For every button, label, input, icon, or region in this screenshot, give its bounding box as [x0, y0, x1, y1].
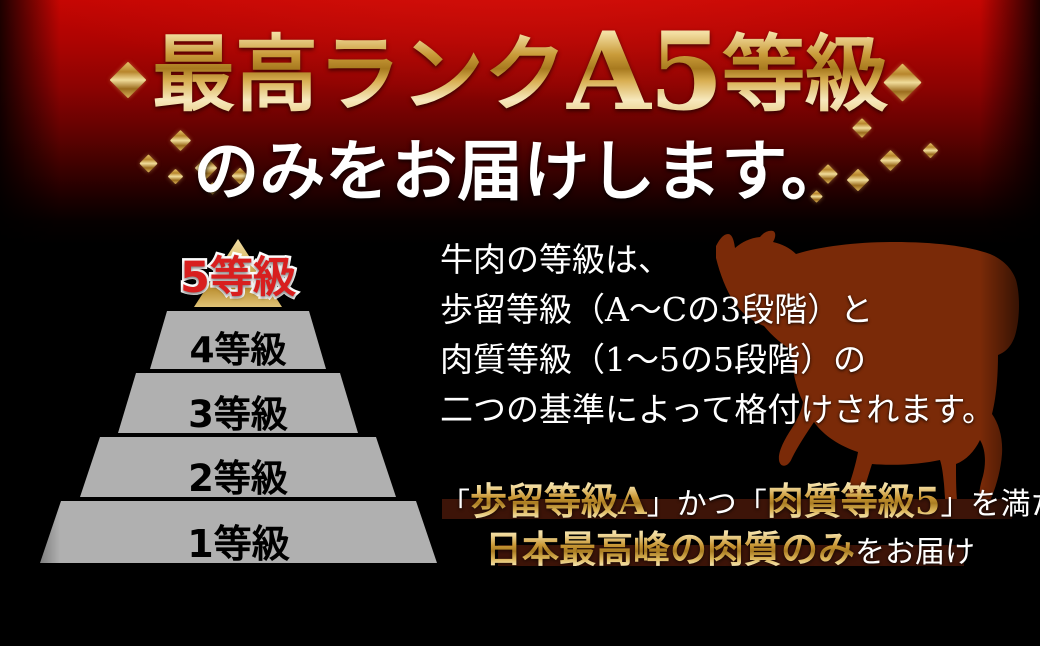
pyramid-tier-1-label: 1等級 — [40, 513, 437, 568]
body-line: 肉質等級（1〜5の5段階）の — [440, 343, 1020, 376]
bottom-highlight: 「歩留等級A」かつ「肉質等級5」を満たした、 日本最高峰の肉質のみをお届け — [440, 482, 1020, 578]
grade-pyramid: 4等級 3等級 2等級 1等級 5等級 — [0, 0, 470, 646]
pyramid-tier-2-label: 2等級 — [80, 448, 396, 502]
pyramid-tier-1: 1等級 — [40, 501, 437, 563]
pyramid-tier-3-label: 3等級 — [118, 384, 358, 438]
bottom-l1-s3: 」かつ「 — [647, 487, 767, 522]
bottom-line-1: 「歩留等級A」かつ「肉質等級5」を満たした、 — [440, 482, 1020, 521]
body-line: 牛肉の等級は、 — [440, 243, 1020, 276]
pyramid-tier-4-label: 4等級 — [150, 321, 326, 373]
pyramid-tier-2: 2等級 — [80, 437, 396, 497]
bottom-line-2: 日本最高峰の肉質のみをお届け — [440, 530, 1020, 569]
body-line: 歩留等級（A〜Cの3段階）と — [440, 293, 1020, 326]
body-text: 牛肉の等級は、 歩留等級（A〜Cの3段階）と 肉質等級（1〜5の5段階）の 二つ… — [440, 243, 1020, 443]
bottom-l2-s1: 日本最高峰の肉質のみ — [485, 527, 855, 571]
bottom-l1-s1: 「 — [440, 487, 470, 522]
pyramid-apex-label: 5等級 — [150, 243, 326, 305]
promo-banner: 最高ランクA5等級 のみをお届けします。 4等級 3等級 2等級 1等級 5等級… — [0, 0, 1040, 646]
pyramid-tier-3: 3等級 — [118, 373, 358, 433]
bottom-l2-s2: をお届け — [855, 535, 975, 570]
pyramid-tier-4: 4等級 — [150, 311, 326, 369]
body-line: 二つの基準によって格付けされます。 — [440, 393, 1020, 426]
bottom-l1-s2: 歩留等級A — [470, 479, 647, 523]
bottom-l1-s4: 肉質等級5 — [767, 479, 941, 523]
bottom-l1-s5: 」を満たした、 — [940, 487, 1040, 522]
